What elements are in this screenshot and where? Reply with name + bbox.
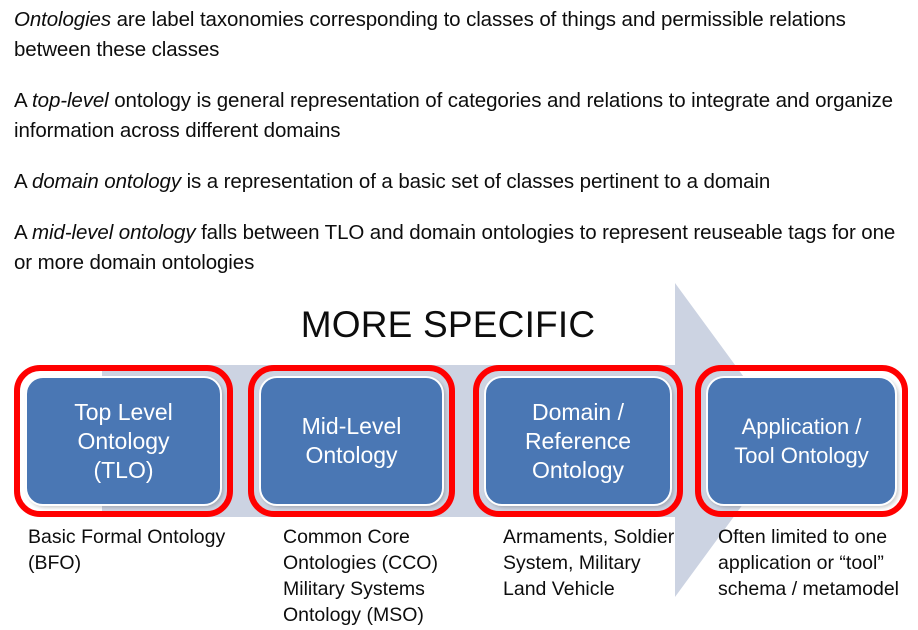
term-ontologies: Ontologies	[14, 8, 111, 31]
caption-row: Basic Formal Ontology (BFO) Common Core …	[0, 524, 918, 630]
paragraph-mid-level-prefix: A	[14, 221, 32, 244]
box-top-level-ontology-fill: Top Level Ontology (TLO)	[25, 376, 222, 506]
caption-domain-reference-ontology: Armaments, Soldier System, Military Land…	[503, 524, 683, 602]
ontology-box-row: Top Level Ontology (TLO) Mid-Level Ontol…	[0, 365, 918, 517]
box-mid-level-ontology-fill: Mid-Level Ontology	[259, 376, 444, 506]
paragraph-domain-ontology-definition: A domain ontology is a representation of…	[14, 167, 904, 197]
box-domain-reference-ontology[interactable]: Domain / Reference Ontology	[473, 365, 683, 517]
caption-top-level-ontology: Basic Formal Ontology (BFO)	[28, 524, 243, 576]
caption-mid-level-ontology: Common Core Ontologies (CCO) Military Sy…	[283, 524, 478, 628]
prose-block: Ontologies are label taxonomies correspo…	[14, 0, 904, 299]
more-specific-heading: MORE SPECIFIC	[0, 303, 907, 347]
term-domain-ontology: domain ontology	[32, 170, 181, 193]
paragraph-ontologies-definition: Ontologies are label taxonomies correspo…	[14, 5, 904, 65]
term-top-level: top-level	[32, 89, 109, 112]
paragraph-top-level-prefix: A	[14, 89, 32, 112]
box-top-level-ontology[interactable]: Top Level Ontology (TLO)	[14, 365, 233, 517]
paragraph-mid-level-definition: A mid-level ontology falls between TLO a…	[14, 218, 904, 278]
paragraph-domain-text: is a representation of a basic set of cl…	[181, 170, 770, 193]
box-application-tool-ontology-fill: Application / Tool Ontology	[706, 376, 897, 506]
box-domain-reference-ontology-label: Domain / Reference Ontology	[521, 398, 635, 485]
term-mid-level-ontology: mid-level ontology	[32, 221, 195, 244]
box-domain-reference-ontology-fill: Domain / Reference Ontology	[484, 376, 672, 506]
paragraph-ontologies-text: are label taxonomies corresponding to cl…	[14, 8, 846, 61]
paragraph-domain-prefix: A	[14, 170, 32, 193]
box-top-level-ontology-label: Top Level Ontology (TLO)	[70, 398, 176, 485]
caption-application-tool-ontology: Often limited to one application or “too…	[718, 524, 918, 602]
box-mid-level-ontology[interactable]: Mid-Level Ontology	[248, 365, 455, 517]
paragraph-top-level-text: ontology is general representation of ca…	[14, 89, 893, 142]
box-application-tool-ontology[interactable]: Application / Tool Ontology	[695, 365, 908, 517]
slide-canvas: Ontologies are label taxonomies correspo…	[0, 0, 918, 630]
box-mid-level-ontology-label: Mid-Level Ontology	[298, 412, 406, 470]
paragraph-top-level-definition: A top-level ontology is general represen…	[14, 86, 904, 146]
box-application-tool-ontology-label: Application / Tool Ontology	[730, 412, 873, 470]
